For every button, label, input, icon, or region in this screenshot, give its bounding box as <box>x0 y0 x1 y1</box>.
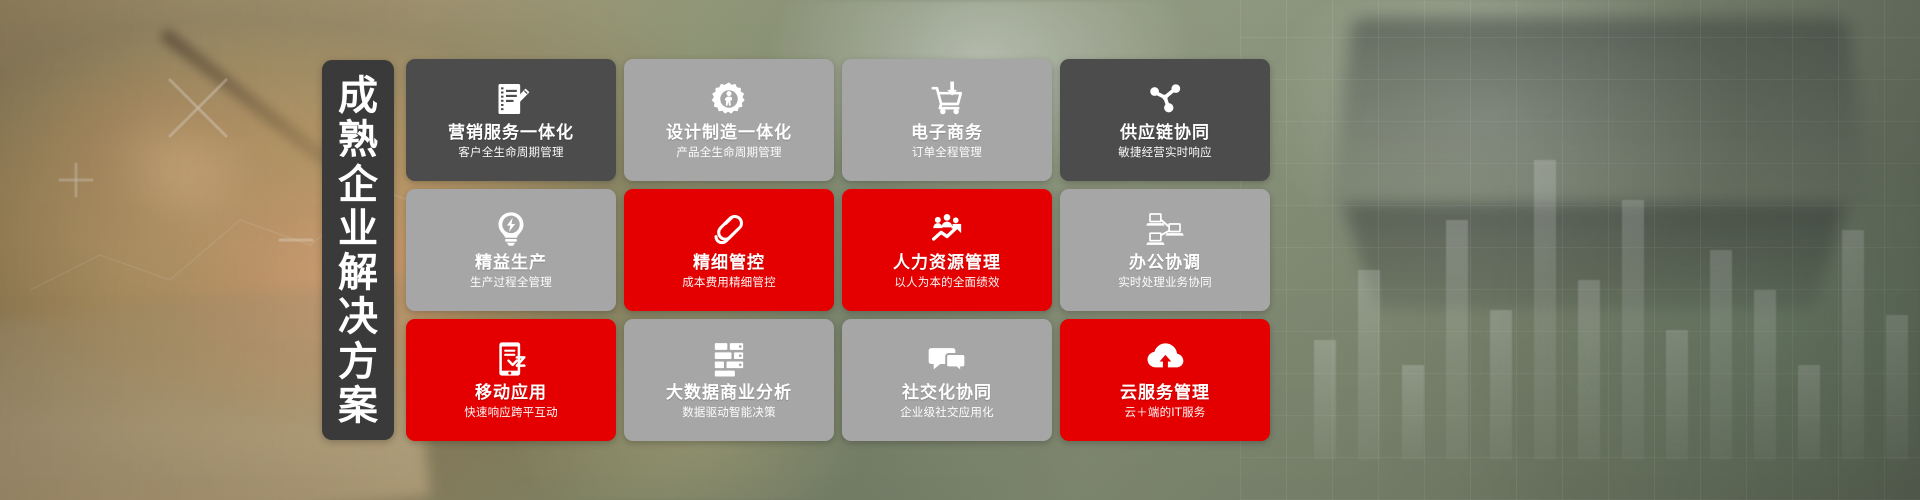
banner-char-2: 熟 <box>338 120 378 160</box>
card-subtitle: 实时处理业务协同 <box>1118 276 1212 290</box>
banner-char-4: 业 <box>338 209 378 249</box>
card-title: 移动应用 <box>475 384 547 404</box>
solution-card[interactable]: 设计制造一体化产品全生命周期管理 <box>624 59 834 181</box>
card-subtitle: 快速响应跨平互动 <box>464 406 558 420</box>
document-pen-icon <box>491 78 531 120</box>
card-subtitle: 云＋端的IT服务 <box>1124 406 1205 420</box>
banner-char-5: 解 <box>338 253 378 293</box>
vertical-banner-title: 成熟企业解决方案 <box>322 60 394 440</box>
solution-card[interactable]: 云服务管理云＋端的IT服务 <box>1060 319 1270 441</box>
card-title: 设计制造一体化 <box>666 124 792 144</box>
card-title: 办公协调 <box>1129 254 1201 274</box>
banner-char-1: 成 <box>338 76 378 116</box>
paperclip-link-icon <box>709 208 749 250</box>
card-subtitle: 客户全生命周期管理 <box>458 146 563 160</box>
solution-card[interactable]: 办公协调实时处理业务协同 <box>1060 189 1270 311</box>
solution-card[interactable]: 精细管控成本费用精细管控 <box>624 189 834 311</box>
card-subtitle: 成本费用精细管控 <box>682 276 776 290</box>
card-title: 供应链协同 <box>1120 124 1210 144</box>
solution-card[interactable]: 移动应用快速响应跨平互动 <box>406 319 616 441</box>
card-title: 精细管控 <box>693 254 765 274</box>
network-nodes-icon <box>1145 78 1185 120</box>
card-title: 云服务管理 <box>1120 384 1210 404</box>
people-growth-arrow-icon <box>927 208 967 250</box>
solution-card[interactable]: 大数据商业分析数据驱动智能决策 <box>624 319 834 441</box>
card-title: 电子商务 <box>911 124 983 144</box>
banner-char-7: 方 <box>338 342 378 382</box>
solution-overview-panel: 成熟企业解决方案 营销服务一体化客户全生命周期管理 设计 <box>0 0 1920 500</box>
connected-computers-icon <box>1145 208 1185 250</box>
shopping-cart-download-icon <box>927 78 967 120</box>
banner-char-6: 决 <box>338 297 378 337</box>
card-title: 大数据商业分析 <box>666 384 792 404</box>
solution-card[interactable]: 供应链协同敏捷经营实时响应 <box>1060 59 1270 181</box>
lightbulb-bolt-icon <box>491 208 531 250</box>
solution-card[interactable]: 社交化协同企业级社交应用化 <box>842 319 1052 441</box>
banner-char-8: 案 <box>338 386 378 426</box>
card-title: 营销服务一体化 <box>448 124 574 144</box>
solution-card[interactable]: 人力资源管理以人为本的全面绩效 <box>842 189 1052 311</box>
cloud-upload-icon <box>1145 338 1185 380</box>
data-server-icon <box>709 338 749 380</box>
card-subtitle: 以人为本的全面绩效 <box>894 276 999 290</box>
card-subtitle: 生产过程全管理 <box>470 276 552 290</box>
card-subtitle: 敏捷经营实时响应 <box>1118 146 1212 160</box>
mobile-device-icon <box>491 338 531 380</box>
card-subtitle: 产品全生命周期管理 <box>676 146 781 160</box>
card-title: 人力资源管理 <box>893 254 1001 274</box>
solution-card[interactable]: 营销服务一体化客户全生命周期管理 <box>406 59 616 181</box>
chat-bubbles-icon <box>927 338 967 380</box>
gear-person-icon <box>709 78 749 120</box>
banner-char-3: 企 <box>338 165 378 205</box>
card-title: 社交化协同 <box>902 384 992 404</box>
card-title: 精益生产 <box>475 254 547 274</box>
solution-card[interactable]: 精益生产生产过程全管理 <box>406 189 616 311</box>
solution-card[interactable]: 电子商务订单全程管理 <box>842 59 1052 181</box>
card-subtitle: 企业级社交应用化 <box>900 406 994 420</box>
card-subtitle: 数据驱动智能决策 <box>682 406 776 420</box>
solution-card-grid: 营销服务一体化客户全生命周期管理 设计制造一体化产品全生命周期管理 <box>406 59 1270 441</box>
card-subtitle: 订单全程管理 <box>912 146 982 160</box>
